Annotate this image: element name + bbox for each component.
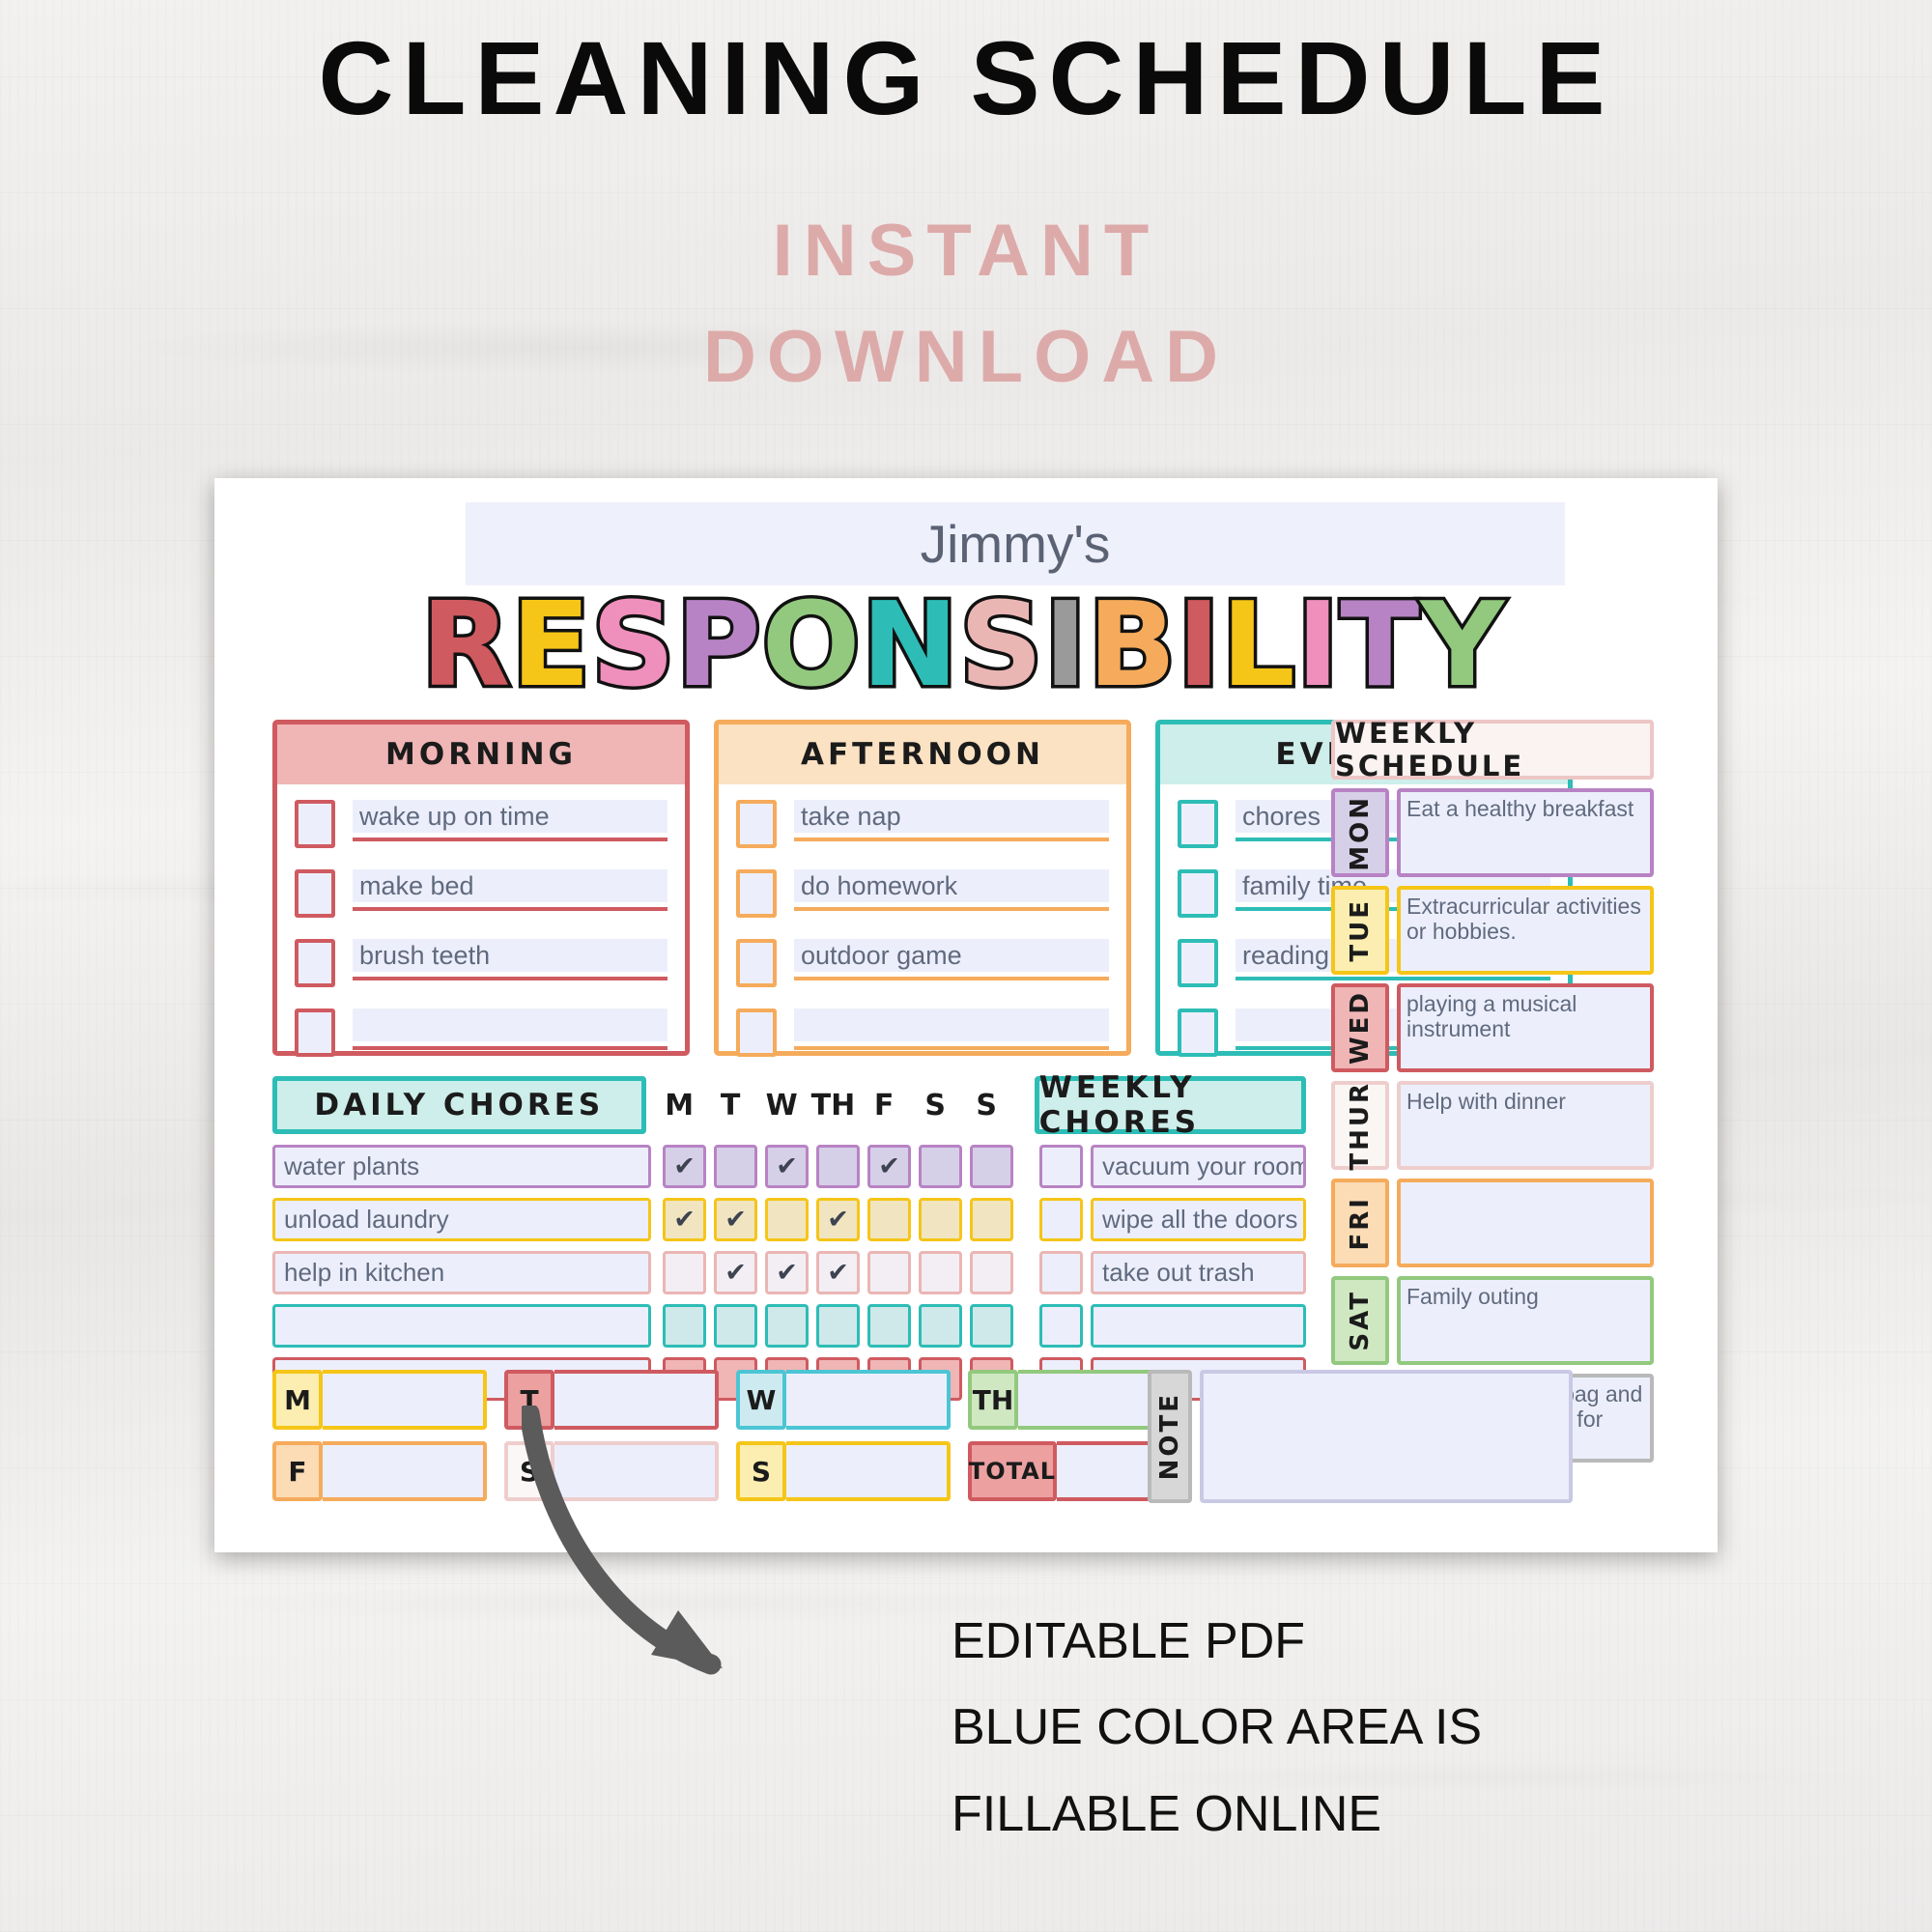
checkbox[interactable]: [1178, 1009, 1218, 1057]
tally-value-input[interactable]: [323, 1441, 487, 1501]
note-box: NOTE: [1148, 1370, 1573, 1503]
chore-checkbox[interactable]: ✔: [816, 1198, 860, 1241]
weekly-schedule-text[interactable]: playing a musical instrument: [1397, 983, 1654, 1072]
weekly-chore-name-input[interactable]: wipe all the doors: [1091, 1198, 1306, 1241]
chore-checkbox[interactable]: [765, 1304, 809, 1348]
chore-checkbox[interactable]: [970, 1198, 1013, 1241]
weekly-schedule-day: THUR: [1331, 1081, 1389, 1170]
chore-checkbox[interactable]: [919, 1145, 962, 1188]
weekly-chore-checkbox[interactable]: [1039, 1198, 1083, 1241]
weekly-schedule-day-label: THUR: [1346, 1081, 1375, 1171]
daily-chores-title: DAILY CHORES: [272, 1076, 646, 1134]
panel-morning: MORNING wake up on time make bed brush t…: [272, 720, 690, 1056]
weekday-label-1: T: [709, 1089, 753, 1122]
chore-row: water plants✔✔✔vacuum your room floor: [272, 1145, 1306, 1188]
checklist-label[interactable]: wake up on time: [353, 800, 668, 833]
rule: [353, 907, 668, 911]
panel-afternoon: AFTERNOON take nap do homework outdoor g…: [714, 720, 1131, 1056]
daily-chores-section: DAILY CHORES MTWTHFSS WEEKLY CHORES wate…: [272, 1075, 1306, 1401]
subtitle-line-1: INSTANT: [0, 198, 1932, 304]
chore-checkbox[interactable]: ✔: [714, 1198, 757, 1241]
weekly-schedule-text[interactable]: Help with dinner: [1397, 1081, 1654, 1170]
weekly-chore-name-input[interactable]: vacuum your room floor: [1091, 1145, 1306, 1188]
footer-line-1: EDITABLE PDF: [952, 1599, 1821, 1685]
weekly-schedule-row: SATFamily outing: [1331, 1276, 1654, 1365]
weekday-label-2: W: [760, 1089, 804, 1122]
subtitle-line-2: DOWNLOAD: [0, 304, 1932, 411]
checkbox[interactable]: [1178, 939, 1218, 987]
checklist-row[interactable]: outdoor game: [736, 939, 1109, 987]
weekly-chore-checkbox[interactable]: [1039, 1251, 1083, 1294]
chore-checkbox[interactable]: [765, 1198, 809, 1241]
chore-checkbox[interactable]: [919, 1304, 962, 1348]
tally-item: M: [272, 1370, 487, 1430]
chore-row: [272, 1304, 1306, 1348]
chore-checkbox[interactable]: [970, 1251, 1013, 1294]
weekly-schedule-title: WEEKLY SCHEDULE: [1331, 720, 1654, 780]
chore-checkbox[interactable]: [970, 1304, 1013, 1348]
weekly-schedule-day: SAT: [1331, 1276, 1389, 1365]
chore-checkbox-group: ✔✔✔: [663, 1198, 1013, 1241]
wordmark-letter-9: I: [1178, 588, 1222, 704]
chore-checkbox[interactable]: ✔: [765, 1145, 809, 1188]
checklist-row[interactable]: [295, 1009, 668, 1057]
weekly-schedule-row: WEDplaying a musical instrument: [1331, 983, 1654, 1072]
wordmark-letter-7: I: [1044, 588, 1089, 704]
checklist-label[interactable]: outdoor game: [794, 939, 1109, 972]
panel-morning-items: wake up on time make bed brush teeth: [277, 784, 685, 1057]
panel-afternoon-title: AFTERNOON: [719, 724, 1126, 784]
weekly-schedule-row: MONEat a healthy breakfast: [1331, 788, 1654, 877]
footer-line-2: BLUE COLOR AREA IS: [952, 1685, 1821, 1771]
chore-checkbox[interactable]: [714, 1304, 757, 1348]
wordmark-letter-0: R: [421, 588, 511, 704]
weekly-chore-checkbox[interactable]: [1039, 1304, 1083, 1348]
checkbox[interactable]: [736, 1009, 777, 1057]
chore-row: help in kitchen✔✔✔take out trash: [272, 1251, 1306, 1294]
rule: [353, 838, 668, 841]
rule: [794, 1046, 1109, 1050]
checkbox[interactable]: [295, 1009, 335, 1057]
page-subtitle: INSTANT DOWNLOAD: [0, 198, 1932, 411]
checkbox[interactable]: [1178, 800, 1218, 848]
chore-checkbox-group: ✔✔✔: [663, 1145, 1013, 1188]
tally-item: F: [272, 1441, 487, 1501]
checklist-label[interactable]: brush teeth: [353, 939, 668, 972]
weekly-schedule-day: FRI: [1331, 1179, 1389, 1267]
wordmark-letter-8: B: [1088, 588, 1177, 704]
weekly-chore-name-input[interactable]: take out trash: [1091, 1251, 1306, 1294]
weekly-schedule-row: FRI: [1331, 1179, 1654, 1267]
checklist-label[interactable]: [794, 1009, 1109, 1041]
rule: [353, 977, 668, 980]
chore-checkbox[interactable]: [816, 1145, 860, 1188]
note-label: NOTE: [1148, 1370, 1192, 1503]
rule: [794, 838, 1109, 841]
chore-checkbox[interactable]: [816, 1304, 860, 1348]
checklist-row[interactable]: make bed: [295, 869, 668, 918]
panel-afternoon-items: take nap do homework outdoor game: [719, 784, 1126, 1057]
chore-checkbox[interactable]: ✔: [714, 1251, 757, 1294]
weekly-schedule-text[interactable]: Family outing: [1397, 1276, 1654, 1365]
chore-checkbox[interactable]: [663, 1251, 706, 1294]
responsibility-wordmark: RESPONSIBILITY: [272, 588, 1654, 704]
name-field-value: Jimmy's: [921, 513, 1111, 575]
tally-label: TOTAL: [968, 1441, 1057, 1501]
checklist-label[interactable]: do homework: [794, 869, 1109, 902]
wordmark-letter-1: E: [511, 588, 591, 704]
checkbox[interactable]: [295, 800, 335, 848]
page-title: CLEANING SCHEDULE: [0, 17, 1932, 138]
weekly-schedule-text[interactable]: [1397, 1179, 1654, 1267]
weekly-schedule-day-label: WED: [1346, 990, 1375, 1065]
rule: [794, 977, 1109, 980]
weekly-schedule-day: TUE: [1331, 886, 1389, 975]
checklist-label[interactable]: make bed: [353, 869, 668, 902]
chores-header-row: DAILY CHORES MTWTHFSS WEEKLY CHORES: [272, 1075, 1306, 1135]
chore-checkbox-group: [663, 1304, 1013, 1348]
chore-checkbox[interactable]: ✔: [663, 1145, 706, 1188]
curved-arrow-icon: [522, 1406, 937, 1724]
weekly-schedule-row: TUEExtracurricular activities or hobbies…: [1331, 886, 1654, 975]
weekday-header: MTWTHFSS: [658, 1089, 1009, 1122]
chore-checkbox[interactable]: [919, 1198, 962, 1241]
weekly-schedule-day-label: TUE: [1346, 898, 1375, 962]
chore-name-input[interactable]: [272, 1304, 651, 1348]
checkbox[interactable]: [736, 800, 777, 848]
checkbox[interactable]: [736, 869, 777, 918]
checkbox[interactable]: [295, 939, 335, 987]
weekly-schedule-text[interactable]: Extracurricular activities or hobbies.: [1397, 886, 1654, 975]
weekly-chore-checkbox[interactable]: [1039, 1145, 1083, 1188]
wordmark-letter-13: Y: [1420, 588, 1505, 704]
name-field[interactable]: Jimmy's: [466, 502, 1565, 585]
weekday-label-0: M: [658, 1089, 701, 1122]
rule: [794, 907, 1109, 911]
weekly-schedule-rows: MONEat a healthy breakfastTUEExtracurric…: [1331, 788, 1654, 1463]
chore-checkbox-group: ✔✔✔: [663, 1251, 1013, 1294]
chore-rows: water plants✔✔✔vacuum your room floorunl…: [272, 1145, 1306, 1401]
weekly-schedule-day-label: FRI: [1346, 1196, 1375, 1250]
chore-checkbox[interactable]: ✔: [765, 1251, 809, 1294]
checkbox[interactable]: [736, 939, 777, 987]
weekly-schedule-row: THURHelp with dinner: [1331, 1081, 1654, 1170]
tally-label: M: [272, 1370, 323, 1430]
tally-label: F: [272, 1441, 323, 1501]
checklist-row[interactable]: wake up on time: [295, 800, 668, 848]
tally-label: TH: [968, 1370, 1018, 1430]
weekly-chore-name-input[interactable]: [1091, 1304, 1306, 1348]
wordmark-letter-2: S: [591, 588, 675, 704]
chore-checkbox[interactable]: [714, 1145, 757, 1188]
weekly-schedule-day-label: SAT: [1346, 1290, 1375, 1351]
weekly-schedule-day: WED: [1331, 983, 1389, 1072]
wordmark-letter-4: O: [762, 588, 862, 704]
footer-captions: EDITABLE PDF BLUE COLOR AREA IS FILLABLE…: [952, 1599, 1821, 1858]
chore-checkbox[interactable]: ✔: [816, 1251, 860, 1294]
chore-checkbox[interactable]: ✔: [867, 1145, 911, 1188]
printable-sheet: Jimmy's RESPONSIBILITY MORNING wake up o…: [214, 478, 1718, 1552]
weekly-schedule-text[interactable]: Eat a healthy breakfast: [1397, 788, 1654, 877]
chore-checkbox[interactable]: [867, 1251, 911, 1294]
chore-checkbox[interactable]: [867, 1198, 911, 1241]
wordmark-letter-6: S: [959, 588, 1043, 704]
wordmark-letter-10: L: [1221, 588, 1295, 704]
checklist-label[interactable]: [353, 1009, 668, 1041]
weekly-schedule-day: MON: [1331, 788, 1389, 877]
checklist-row[interactable]: brush teeth: [295, 939, 668, 987]
checkbox[interactable]: [295, 869, 335, 918]
footer-line-3: FILLABLE ONLINE: [952, 1772, 1821, 1858]
weekday-label-6: S: [965, 1089, 1009, 1122]
weekly-schedule-day-label: MON: [1346, 795, 1375, 871]
chore-name-input[interactable]: help in kitchen: [272, 1251, 651, 1294]
note-label-text: NOTE: [1155, 1392, 1184, 1480]
checklist-row[interactable]: take nap: [736, 800, 1109, 848]
chore-row: unload laundry✔✔✔wipe all the doors: [272, 1198, 1306, 1241]
tally-value-input[interactable]: [323, 1370, 487, 1430]
weekday-label-5: S: [914, 1089, 957, 1122]
weekly-chores-title: WEEKLY CHORES: [1035, 1076, 1306, 1134]
note-input[interactable]: [1200, 1370, 1573, 1503]
wordmark-letter-3: P: [676, 588, 762, 704]
panel-morning-title: MORNING: [277, 724, 685, 784]
chore-checkbox[interactable]: [867, 1304, 911, 1348]
wordmark-letter-12: T: [1340, 588, 1420, 704]
chore-name-input[interactable]: water plants: [272, 1145, 651, 1188]
chore-checkbox[interactable]: [919, 1251, 962, 1294]
weekday-label-4: F: [863, 1089, 906, 1122]
weekday-label-3: TH: [811, 1089, 855, 1122]
wordmark-letter-11: I: [1296, 588, 1341, 704]
chore-checkbox[interactable]: ✔: [663, 1198, 706, 1241]
checkbox[interactable]: [1178, 869, 1218, 918]
checklist-row[interactable]: do homework: [736, 869, 1109, 918]
rule: [353, 1046, 668, 1050]
checklist-label[interactable]: take nap: [794, 800, 1109, 833]
wordmark-letter-5: N: [862, 588, 959, 704]
chore-checkbox[interactable]: [970, 1145, 1013, 1188]
checklist-row[interactable]: [736, 1009, 1109, 1057]
chore-name-input[interactable]: unload laundry: [272, 1198, 651, 1241]
chore-checkbox[interactable]: [663, 1304, 706, 1348]
